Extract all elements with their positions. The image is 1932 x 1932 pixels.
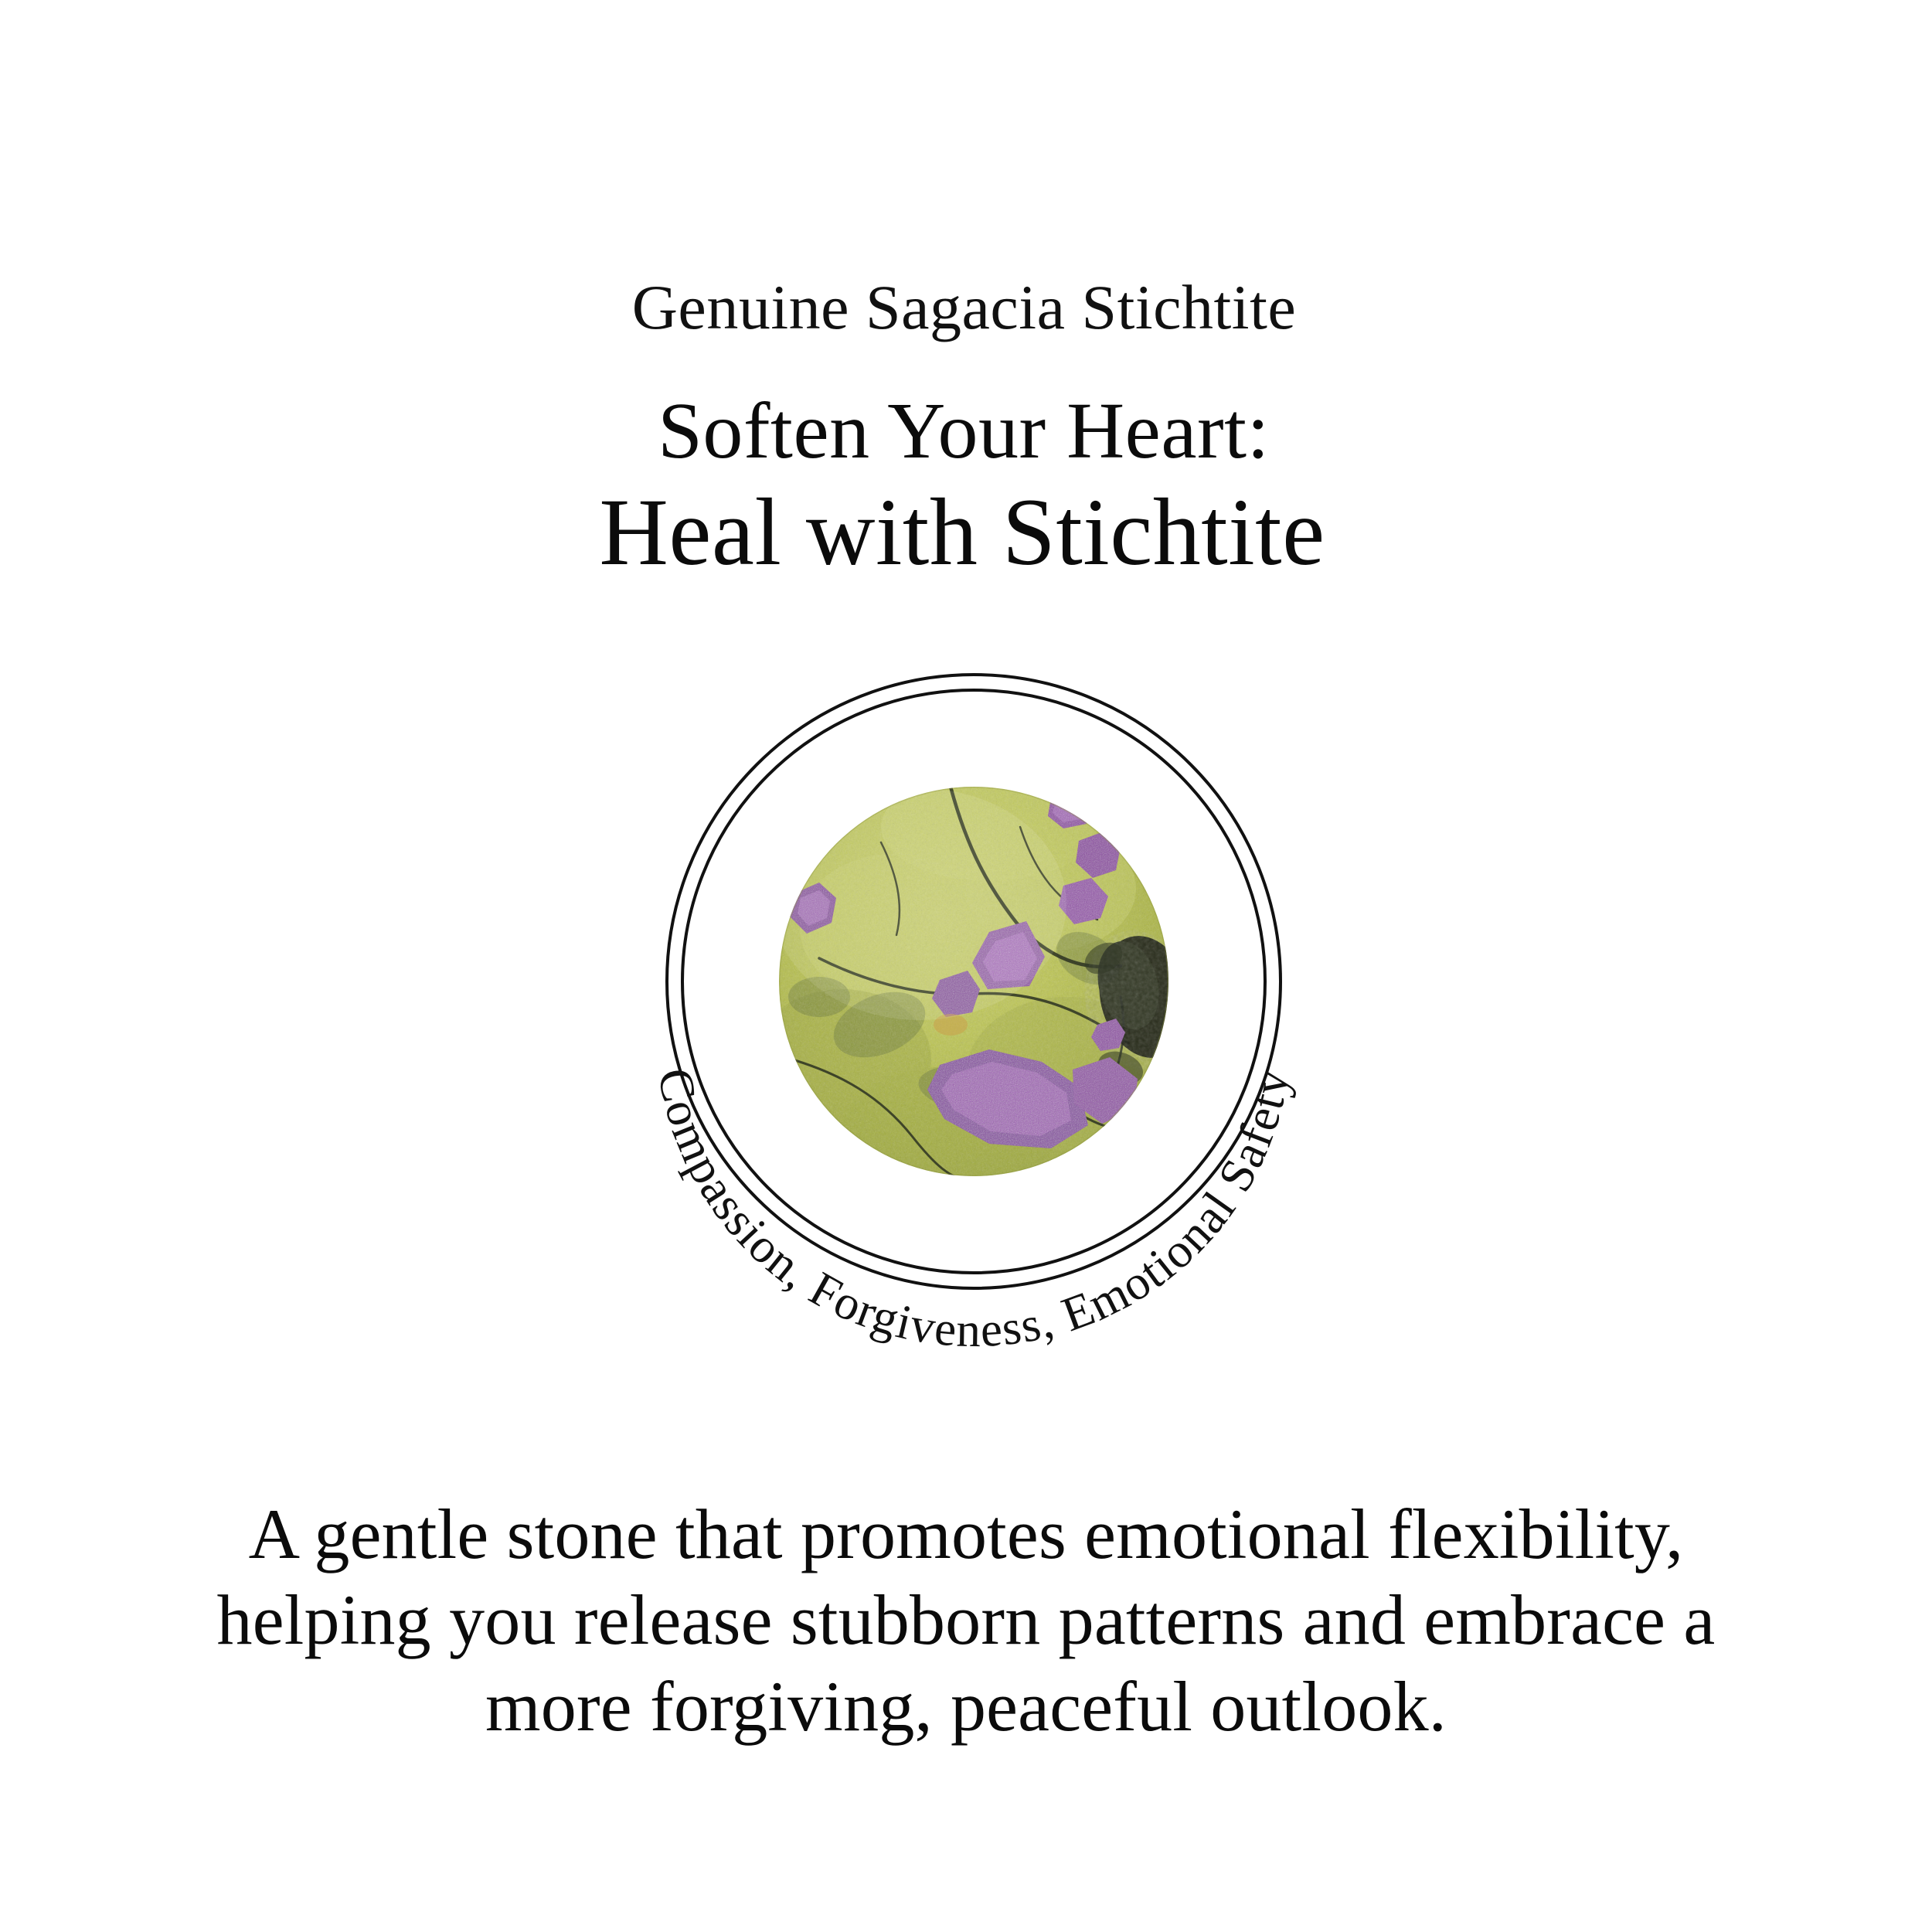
header-block: Genuine Sagacia Stichtite Soften Your He… bbox=[0, 274, 1932, 583]
description-line-one: A gentle stone that promotes emotional f… bbox=[0, 1492, 1932, 1577]
product-card: Genuine Sagacia Stichtite Soften Your He… bbox=[0, 0, 1932, 1932]
stone-image bbox=[753, 773, 1209, 1190]
product-eyebrow: Genuine Sagacia Stichtite bbox=[0, 274, 1932, 341]
description-line-three: more forgiving, peaceful outlook. bbox=[0, 1664, 1932, 1750]
stone-emblem: Compassion, Forgiveness, Emotional Safet… bbox=[587, 595, 1360, 1368]
title-line-one: Soften Your Heart: bbox=[0, 389, 1932, 474]
page-title: Soften Your Heart: Heal with Stichtite bbox=[0, 389, 1932, 583]
description-line-two: helping you release stubborn patterns an… bbox=[0, 1577, 1932, 1663]
product-description: A gentle stone that promotes emotional f… bbox=[0, 1492, 1932, 1750]
title-line-two: Heal with Stichtite bbox=[0, 481, 1932, 583]
